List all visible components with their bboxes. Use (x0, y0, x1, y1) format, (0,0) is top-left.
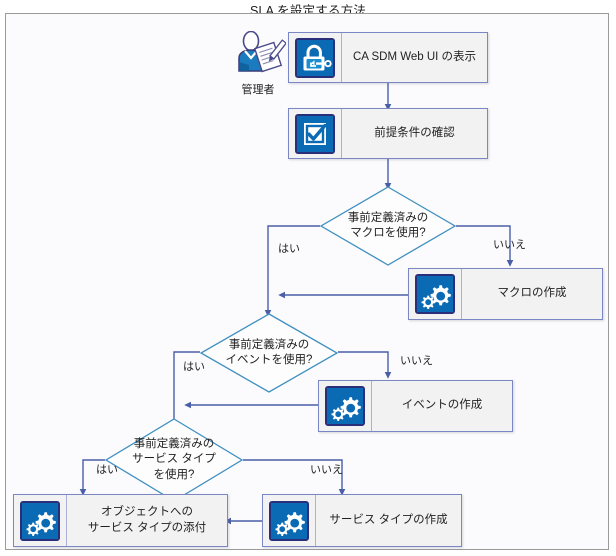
node-check-prerequisites[interactable]: 前提条件の確認 (288, 108, 488, 159)
edge-label-service-yes: はい (96, 461, 118, 477)
node-icon-cell (263, 495, 316, 546)
node-label: 前提条件の確認 (342, 109, 487, 158)
node-create-service-type[interactable]: サービス タイプの作成 (262, 494, 462, 547)
padlock-key-icon (295, 38, 335, 78)
node-create-event[interactable]: イベントの作成 (318, 380, 513, 432)
gears-icon (20, 501, 60, 541)
decision-use-predefined-service-type[interactable]: 事前定義済みの サービス タイプ を使用? (105, 418, 243, 502)
node-icon-cell (289, 33, 342, 82)
node-icon-cell (14, 495, 67, 546)
checkbox-checkmark-icon (295, 114, 335, 154)
node-create-macro[interactable]: マクロの作成 (408, 268, 603, 320)
actor-administrator: 管理者 (230, 31, 286, 97)
edge-label-event-no: いいえ (400, 352, 433, 368)
node-label: サービス タイプの作成 (316, 495, 461, 546)
node-attach-service-type[interactable]: オブジェクトへの サービス タイプの添付 (13, 494, 228, 547)
node-label: マクロの作成 (462, 269, 602, 319)
node-display-web-ui[interactable]: CA SDM Web UI の表示 (288, 32, 488, 83)
edge-label-service-no: いいえ (310, 461, 343, 477)
edge-label-macro-yes: はい (278, 240, 300, 256)
decision-use-predefined-macro[interactable]: 事前定義済みの マクロを使用? (320, 186, 456, 266)
node-label: イベントの作成 (372, 381, 512, 431)
flowchart-canvas: SLA を設定する方法 (0, 0, 616, 556)
edge-label-macro-no: いいえ (493, 236, 526, 252)
node-icon-cell (319, 381, 372, 431)
node-icon-cell (289, 109, 342, 158)
administrator-person-document-icon (230, 31, 286, 75)
node-label: CA SDM Web UI の表示 (342, 33, 487, 82)
gears-icon (415, 274, 455, 314)
actor-label: 管理者 (230, 81, 286, 97)
node-icon-cell (409, 269, 462, 319)
gears-icon (325, 386, 365, 426)
edge-label-event-yes: はい (183, 358, 205, 374)
gears-icon (269, 501, 309, 541)
node-label: オブジェクトへの サービス タイプの添付 (67, 495, 227, 546)
